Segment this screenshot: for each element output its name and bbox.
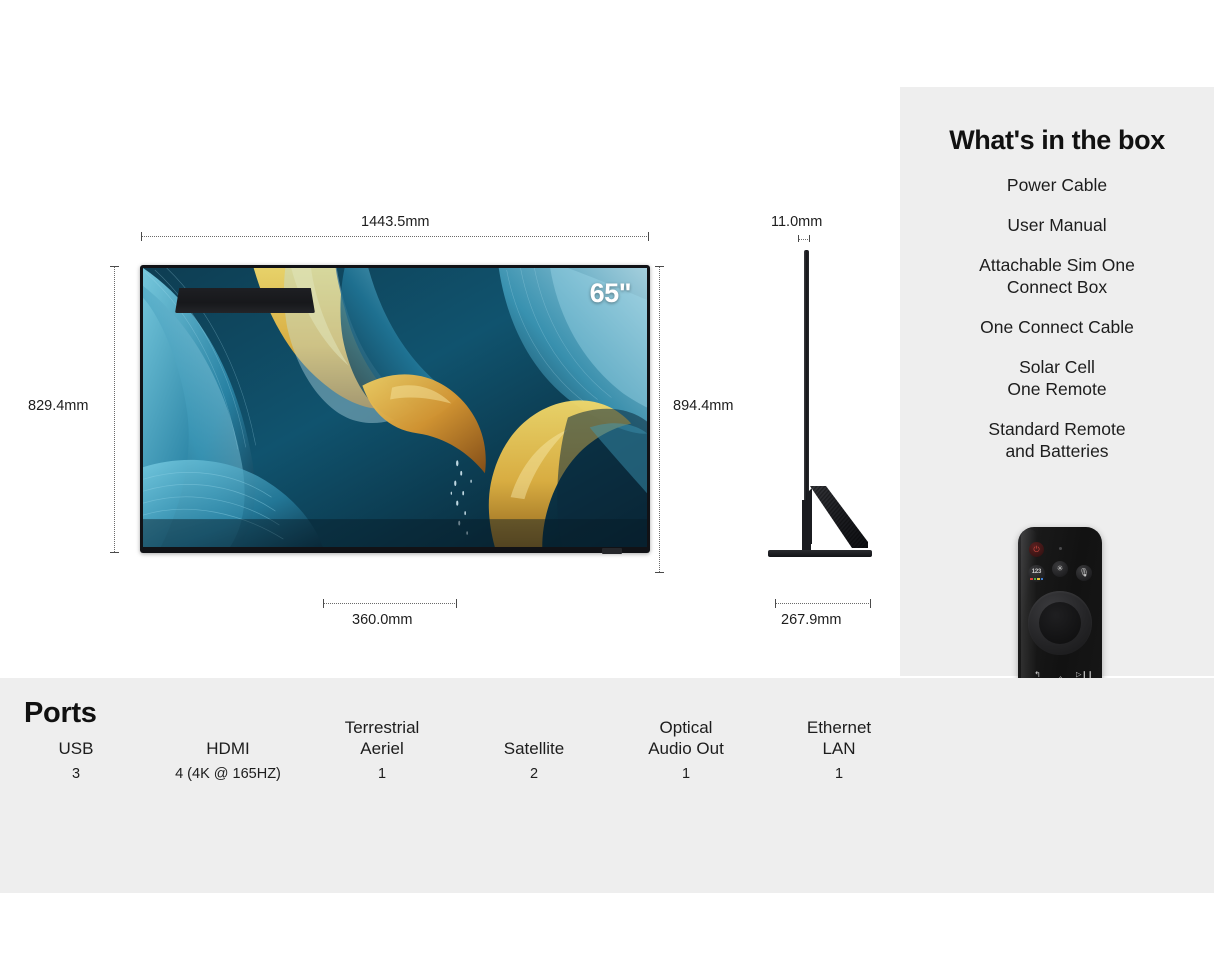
keypad-123-icon[interactable]: 123 — [1028, 565, 1045, 582]
dpad-select-button[interactable] — [1039, 602, 1081, 644]
dim-cap-bottom-left — [110, 552, 119, 553]
ir-sensor-dot — [1059, 547, 1062, 550]
mic-icon[interactable]: 🎙 — [1076, 565, 1092, 581]
list-item: Attachable Sim One Connect Box — [918, 254, 1196, 298]
dim-depth-line — [775, 603, 871, 604]
screen-size-badge: 65" — [590, 278, 631, 309]
port-label: HDMI — [143, 738, 313, 759]
ports-panel: Ports USB 3 HDMI 4 (4K @ 165HZ) Terrestr… — [0, 678, 1214, 893]
dim-cap-thick-right — [809, 235, 810, 242]
port-value: 1 — [297, 766, 467, 782]
keypad-glyph: 123 — [1028, 569, 1045, 575]
list-item: User Manual — [918, 214, 1196, 236]
multiview-glyph: ✳ — [1052, 565, 1068, 573]
dim-panel-height-label: 829.4mm — [28, 398, 88, 414]
port-value: 3 — [0, 766, 161, 782]
list-item: Power Cable — [918, 174, 1196, 196]
port-label: USB — [0, 738, 161, 759]
tv-logo-plate — [602, 548, 622, 554]
dim-stand-width-label: 360.0mm — [352, 612, 412, 628]
dim-cap-right — [648, 232, 649, 241]
whats-in-the-box-title: What's in the box — [900, 125, 1214, 156]
port-value: 2 — [449, 766, 619, 782]
list-item: Standard Remote and Batteries — [918, 418, 1196, 462]
dim-front-width-line — [141, 236, 649, 237]
mic-glyph: 🎙 — [1076, 569, 1092, 577]
port-value: 1 — [754, 766, 924, 782]
port-label: Ethernet LAN — [754, 717, 924, 759]
dim-cap-top-left — [110, 266, 119, 267]
port-column-usb: USB 3 — [0, 738, 161, 782]
dim-cap-depth-right — [870, 599, 871, 608]
tv-side-view — [762, 250, 882, 583]
tv-stand-base — [175, 288, 315, 313]
play-pause-glyph: ▷❙❙ — [1076, 671, 1092, 678]
dim-thickness-label: 11.0mm — [771, 214, 822, 230]
dim-cap-bottom-right — [655, 572, 664, 573]
multiview-icon[interactable]: ✳ — [1052, 561, 1068, 577]
list-item: Solar Cell One Remote — [918, 356, 1196, 400]
dim-cap-left — [141, 232, 142, 241]
dim-cap-thick-left — [798, 235, 799, 242]
port-column-ethernet-lan: Ethernet LAN 1 — [754, 717, 924, 782]
dim-cap-stand-right — [456, 599, 457, 608]
dim-total-height-label: 894.4mm — [673, 398, 733, 414]
dim-cap-top-right — [655, 266, 664, 267]
power-icon[interactable]: ⏻ — [1029, 542, 1044, 557]
port-value: 4 (4K @ 165HZ) — [143, 766, 313, 782]
port-value: 1 — [601, 766, 771, 782]
dim-front-width-label: 1443.5mm — [361, 214, 430, 230]
port-label: Optical Audio Out — [601, 717, 771, 759]
dim-cap-stand-left — [323, 599, 324, 608]
power-glyph: ⏻ — [1029, 546, 1044, 554]
dim-panel-height-line — [114, 266, 115, 552]
dim-stand-width-line — [323, 603, 457, 604]
port-column-terrestrial-aeriel: Terrestrial Aeriel 1 — [297, 717, 467, 782]
whats-in-the-box-list: Power Cable User Manual Attachable Sim O… — [918, 174, 1196, 480]
dim-total-height-line — [659, 266, 660, 572]
dim-cap-depth-left — [775, 599, 776, 608]
port-column-satellite: Satellite 2 — [449, 738, 619, 782]
port-column-hdmi: HDMI 4 (4K @ 165HZ) — [143, 738, 313, 782]
side-stand-wedge — [808, 486, 870, 548]
side-base-plate — [768, 550, 872, 557]
dim-depth-label: 267.9mm — [781, 612, 841, 628]
ports-title: Ports — [24, 697, 97, 730]
port-label: Satellite — [449, 738, 619, 759]
port-column-optical-audio-out: Optical Audio Out 1 — [601, 717, 771, 782]
color-dots-icon — [1030, 578, 1043, 580]
port-label: Terrestrial Aeriel — [297, 717, 467, 759]
list-item: One Connect Cable — [918, 316, 1196, 338]
